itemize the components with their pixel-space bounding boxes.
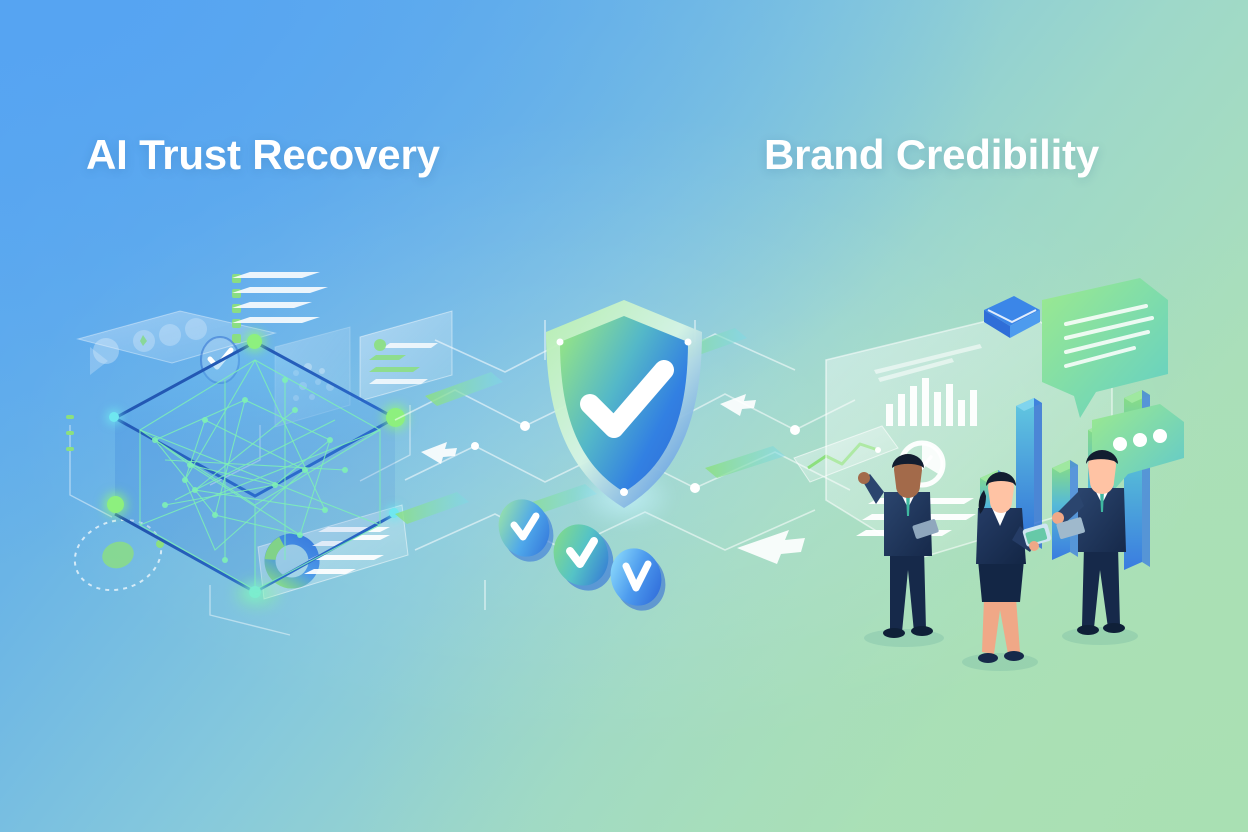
person-reviewer: [1052, 450, 1126, 635]
page-title-right: Brand Credibility: [764, 131, 1099, 179]
ai-network-cube: [95, 300, 415, 630]
person-presenter: [858, 454, 939, 638]
shield-left-dot: [557, 339, 564, 346]
cube-node-top: [247, 334, 262, 349]
trust-shield: [540, 296, 708, 512]
check-coin-3: [606, 542, 670, 614]
shield-right-dot: [685, 339, 692, 346]
envelope-icon: [984, 296, 1040, 338]
cube-bottom-glow: [235, 580, 279, 608]
cube-node-bottom-left: [107, 496, 124, 513]
brand-analytics-team: [860, 430, 1160, 680]
shield-bottom-dot: [620, 488, 628, 496]
page-title-left: AI Trust Recovery: [86, 131, 440, 179]
cube-node-left: [109, 412, 119, 422]
person-analyst: [976, 472, 1052, 663]
illustration-canvas: AI Trust Recovery Brand Credibility: [0, 0, 1248, 832]
skirt: [978, 560, 1024, 602]
message-bubble: [1042, 278, 1168, 418]
figure-shadows: [864, 627, 1138, 671]
